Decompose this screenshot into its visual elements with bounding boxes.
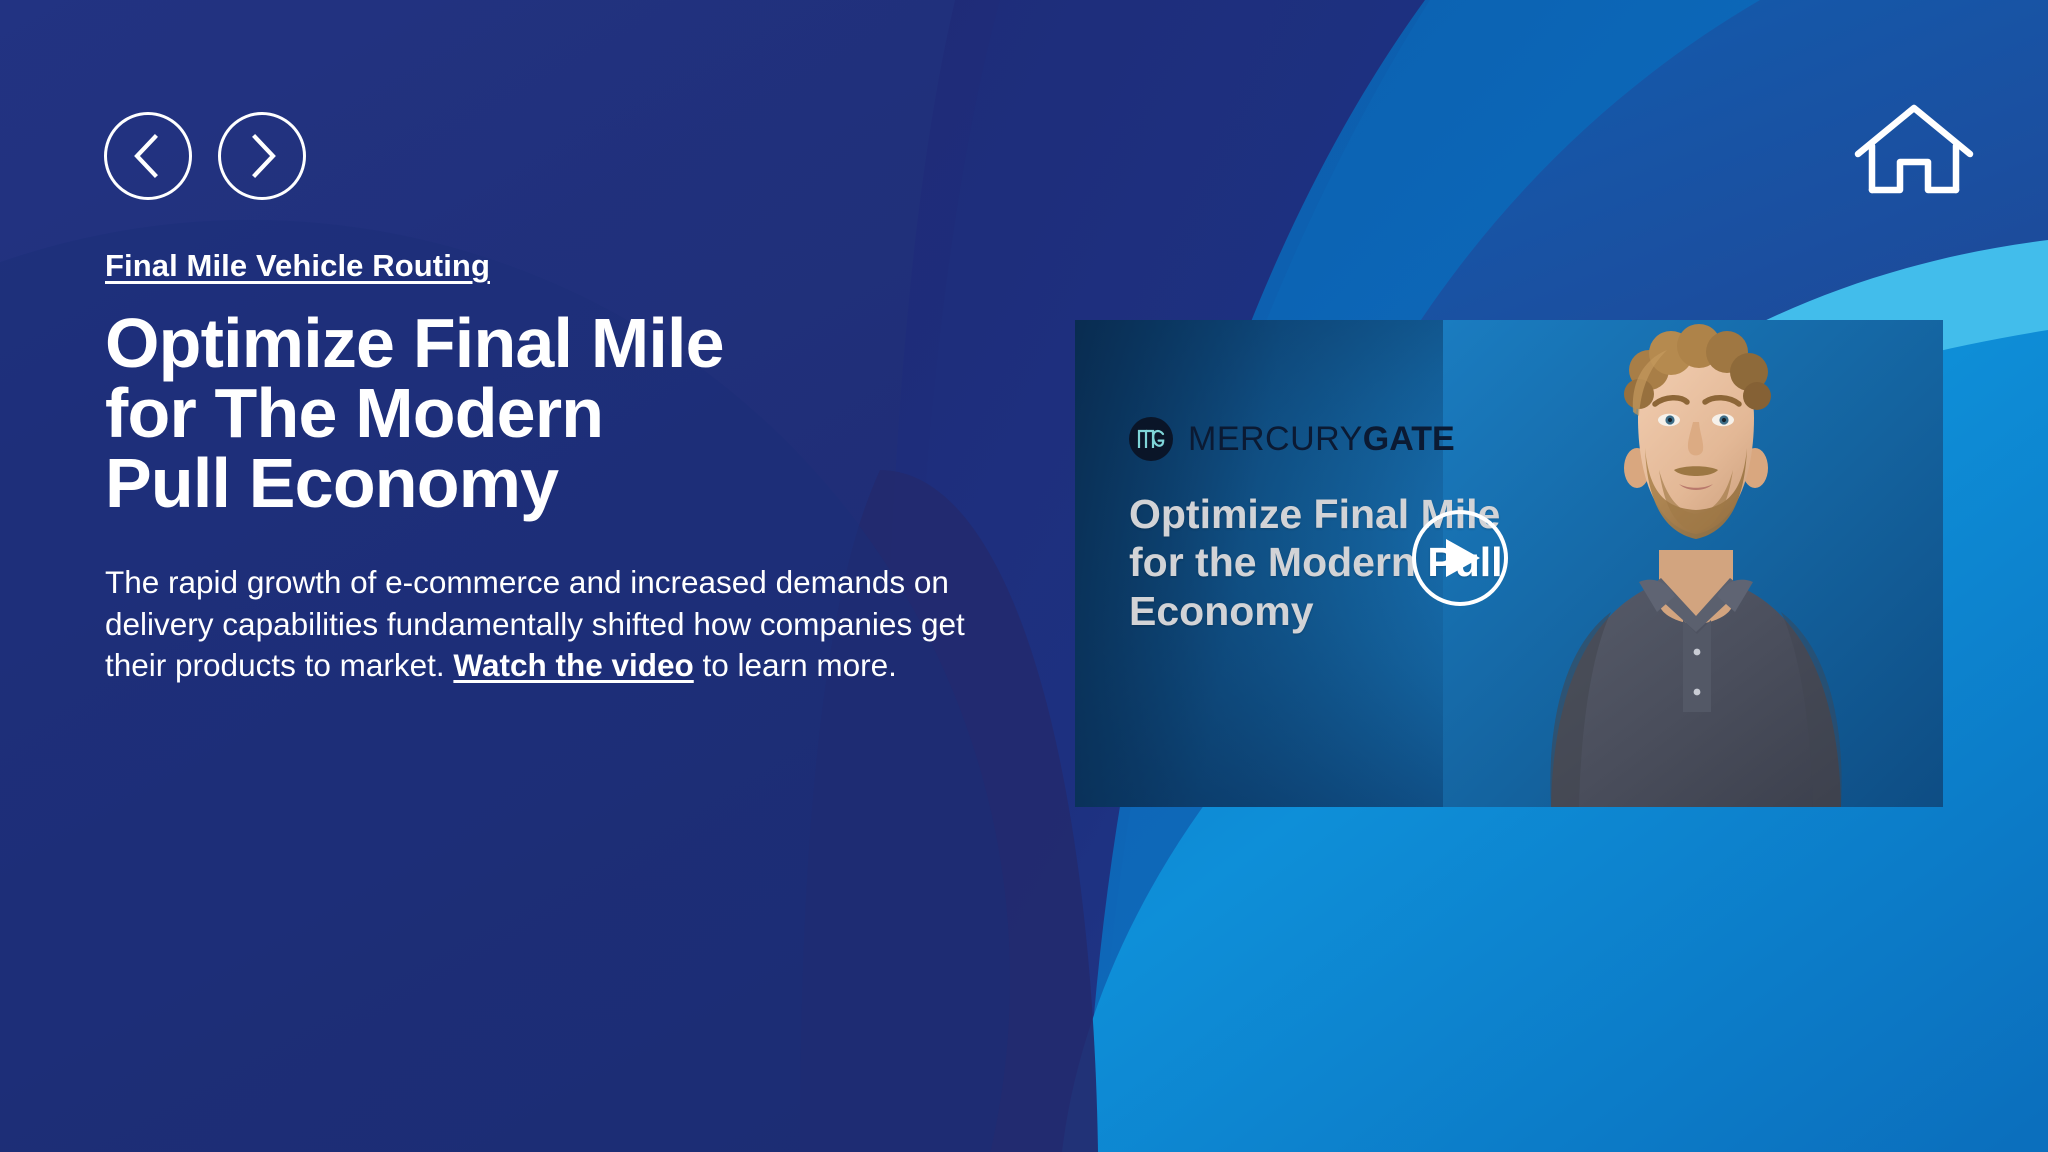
slide-description: The rapid growth of e-commerce and incre… bbox=[105, 562, 975, 687]
next-slide-button[interactable] bbox=[218, 112, 306, 200]
chevron-right-icon bbox=[245, 133, 279, 179]
prev-slide-button[interactable] bbox=[104, 112, 192, 200]
carousel-nav bbox=[104, 112, 306, 200]
mercurygate-wordmark: MERCURY GATE bbox=[1188, 420, 1455, 459]
wordmark-mercury: MERCURY bbox=[1188, 420, 1363, 459]
home-button[interactable] bbox=[1852, 102, 1976, 196]
video-thumbnail-card[interactable]: MERCURY GATE Optimize Final Milefor the … bbox=[1075, 320, 1943, 807]
play-triangle-icon bbox=[1437, 535, 1484, 581]
video-title-line-3: Economy bbox=[1129, 588, 1314, 634]
video-title-line-2a: for the Modern bbox=[1129, 539, 1427, 585]
presenter-portrait bbox=[1443, 320, 1943, 807]
slide-copy: Final Mile Vehicle Routing Optimize Fina… bbox=[105, 248, 985, 687]
play-button[interactable] bbox=[1412, 510, 1508, 606]
description-text-after: to learn more. bbox=[694, 647, 897, 683]
page-title: Optimize Final Mile for The Modern Pull … bbox=[105, 308, 985, 518]
mercurygate-mark-icon bbox=[1129, 417, 1173, 461]
mercurygate-logo: MERCURY GATE bbox=[1129, 417, 1455, 461]
slide-eyebrow-link[interactable]: Final Mile Vehicle Routing bbox=[105, 248, 490, 284]
watch-the-video-link[interactable]: Watch the video bbox=[453, 647, 693, 683]
home-icon bbox=[1852, 102, 1976, 196]
wordmark-gate: GATE bbox=[1363, 420, 1455, 459]
chevron-left-icon bbox=[131, 133, 165, 179]
